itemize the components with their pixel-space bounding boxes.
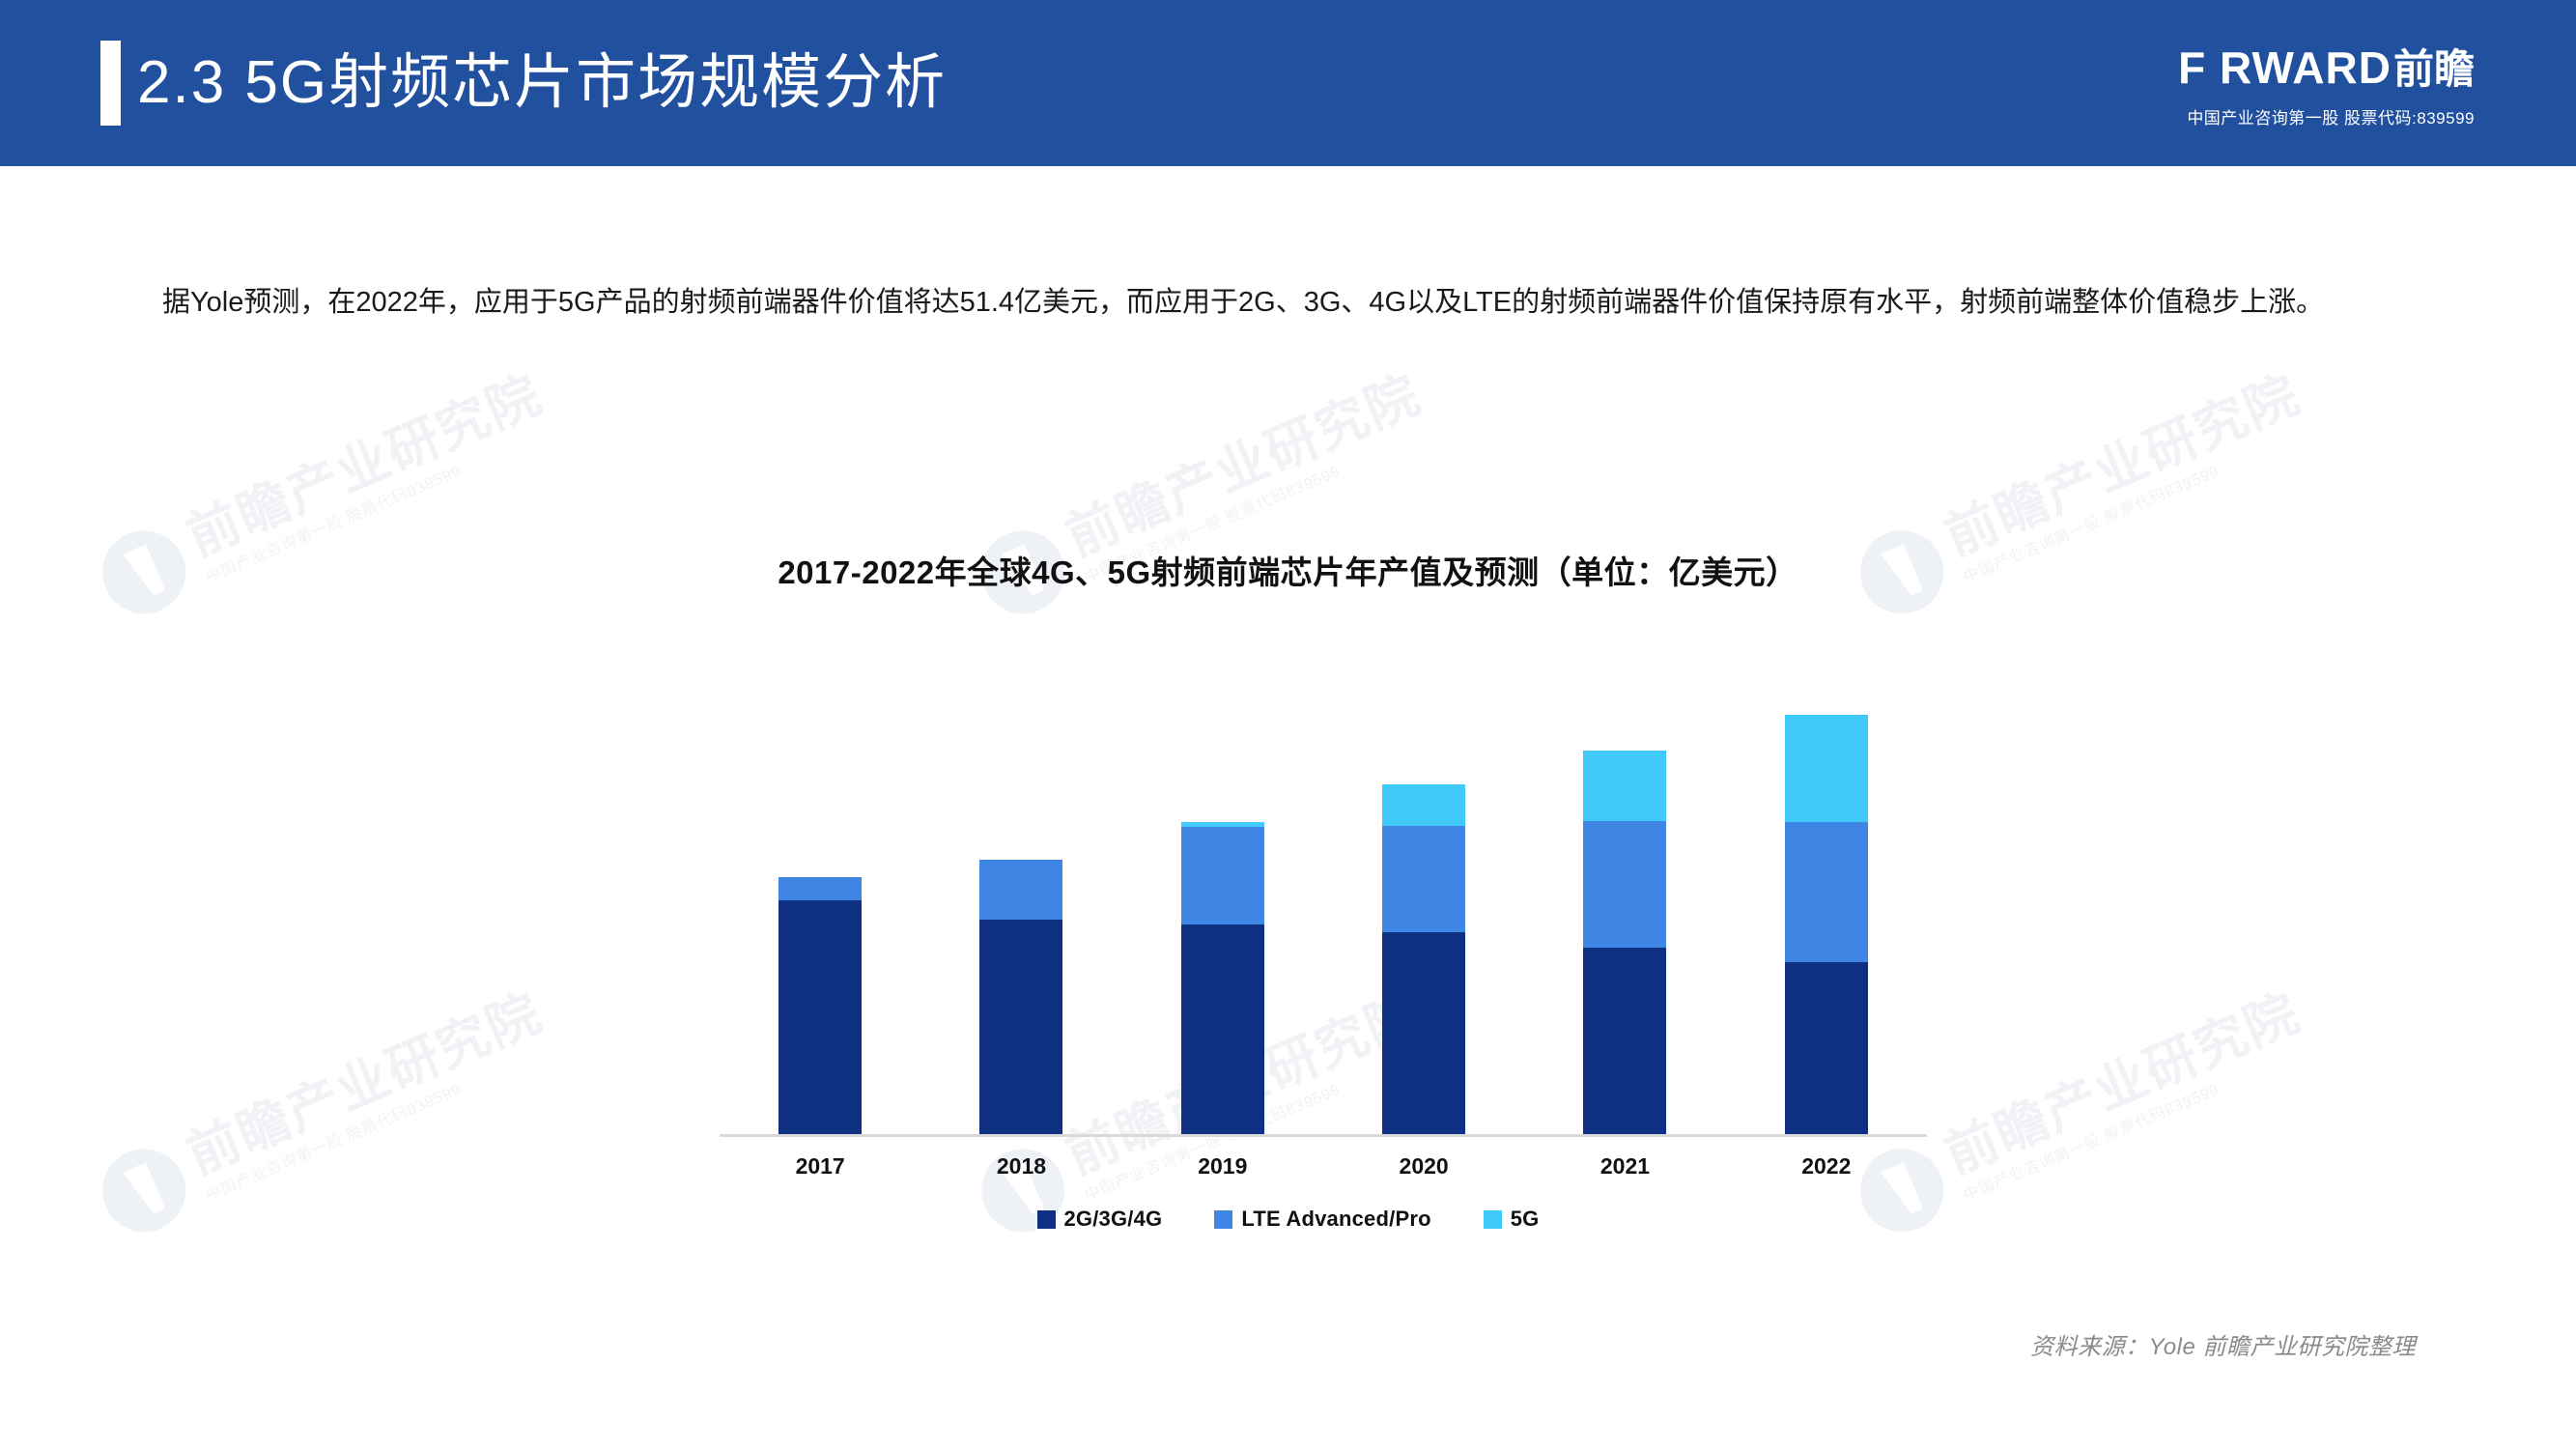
- bar-column-2019: [1181, 822, 1264, 1135]
- bar-segment-5g-2021: [1583, 751, 1666, 821]
- legend-label: LTE Advanced/Pro: [1241, 1207, 1430, 1232]
- bar-segment-lte-advanced-pro-2021: [1583, 821, 1666, 948]
- legend-label: 2G/3G/4G: [1064, 1207, 1163, 1232]
- chart-x-axis-labels: 201720182019202020212022: [720, 1153, 1927, 1186]
- legend-swatch-icon: [1214, 1210, 1232, 1229]
- legend-swatch-icon: [1484, 1210, 1502, 1229]
- legend-item-lte-advanced-pro[interactable]: LTE Advanced/Pro: [1214, 1207, 1430, 1232]
- bar-column-2022: [1785, 715, 1868, 1135]
- x-axis-label-2017: 2017: [778, 1153, 862, 1186]
- bar-segment-2g-3g-4g-2022: [1785, 962, 1868, 1135]
- brand-name-cn: 前瞻: [2393, 37, 2475, 96]
- bar-segment-2g-3g-4g-2019: [1181, 924, 1264, 1135]
- bar-segment-lte-advanced-pro-2017: [778, 877, 862, 900]
- bar-column-2017: [778, 877, 862, 1135]
- page-header: 2.3 5G射频芯片市场规模分析 F RWARD 前瞻 中国产业咨询第一股 股票…: [0, 0, 2576, 166]
- legend-item-5g[interactable]: 5G: [1484, 1207, 1540, 1232]
- chart-bars: [720, 676, 1927, 1135]
- bar-column-2021: [1583, 751, 1666, 1135]
- bar-segment-2g-3g-4g-2018: [979, 920, 1062, 1135]
- source-note: 资料来源：Yole 前瞻产业研究院整理: [2030, 1327, 2416, 1361]
- chart-title: 2017-2022年全球4G、5G射频前端芯片年产值及预测（单位：亿美元）: [0, 547, 2576, 593]
- x-axis-label-2020: 2020: [1382, 1153, 1465, 1186]
- header-accent-bar: [100, 41, 121, 126]
- bar-segment-5g-2020: [1382, 784, 1465, 826]
- bar-column-2018: [979, 860, 1062, 1135]
- bar-segment-2g-3g-4g-2020: [1382, 932, 1465, 1135]
- brand-subtitle: 中国产业咨询第一股 股票代码:839599: [2178, 104, 2475, 128]
- bar-column-2020: [1382, 784, 1465, 1135]
- legend-item-2g-3g-4g[interactable]: 2G/3G/4G: [1037, 1207, 1163, 1232]
- x-axis-label-2018: 2018: [979, 1153, 1062, 1186]
- brand-name-en: F RWARD: [2178, 42, 2392, 94]
- chart-x-axis-line: [720, 1134, 1927, 1137]
- bar-segment-lte-advanced-pro-2022: [1785, 822, 1868, 962]
- x-axis-label-2019: 2019: [1181, 1153, 1264, 1186]
- bar-segment-lte-advanced-pro-2018: [979, 860, 1062, 920]
- chart-legend: 2G/3G/4GLTE Advanced/Pro5G: [0, 1207, 2576, 1232]
- chart-container: 2017-2022年全球4G、5G射频前端芯片年产值及预测（单位：亿美元） 20…: [0, 0, 2576, 1449]
- bar-segment-2g-3g-4g-2021: [1583, 948, 1666, 1135]
- brand-logo: F RWARD 前瞻 中国产业咨询第一股 股票代码:839599: [2178, 37, 2475, 128]
- bar-segment-lte-advanced-pro-2020: [1382, 826, 1465, 932]
- page-title: 2.3 5G射频芯片市场规模分析: [137, 33, 947, 120]
- legend-label: 5G: [1511, 1207, 1540, 1232]
- bar-segment-lte-advanced-pro-2019: [1181, 827, 1264, 924]
- bar-segment-5g-2022: [1785, 715, 1868, 822]
- x-axis-label-2022: 2022: [1785, 1153, 1868, 1186]
- legend-swatch-icon: [1037, 1210, 1056, 1229]
- bar-segment-2g-3g-4g-2017: [778, 900, 862, 1135]
- x-axis-label-2021: 2021: [1583, 1153, 1666, 1186]
